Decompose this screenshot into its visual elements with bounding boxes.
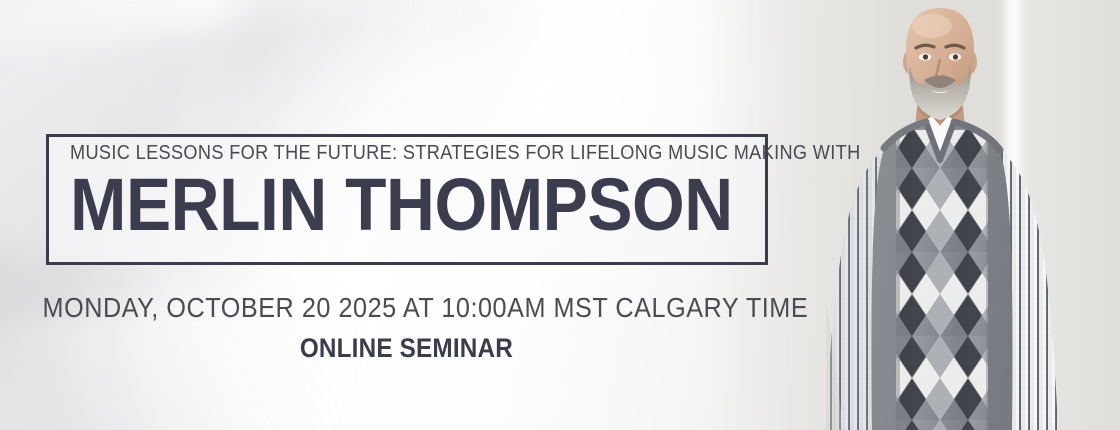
seminar-format-text: ONLINE SEMINAR (299, 333, 512, 364)
title-block: MUSIC LESSONS FOR THE FUTURE: STRATEGIES… (70, 142, 760, 242)
seminar-datetime-text: MONDAY, OCTOBER 20 2025 AT 10:00AM MST C… (43, 292, 809, 324)
seminar-datetime: MONDAY, OCTOBER 20 2025 AT 10:00AM MST C… (0, 292, 812, 324)
seminar-format: ONLINE SEMINAR (0, 333, 812, 364)
seminar-promo-banner: MUSIC LESSONS FOR THE FUTURE: STRATEGIES… (0, 0, 1120, 430)
seminar-subtitle: MUSIC LESSONS FOR THE FUTURE: STRATEGIES… (70, 142, 681, 165)
presenter-name-heading: MERLIN THOMPSON (70, 167, 701, 242)
